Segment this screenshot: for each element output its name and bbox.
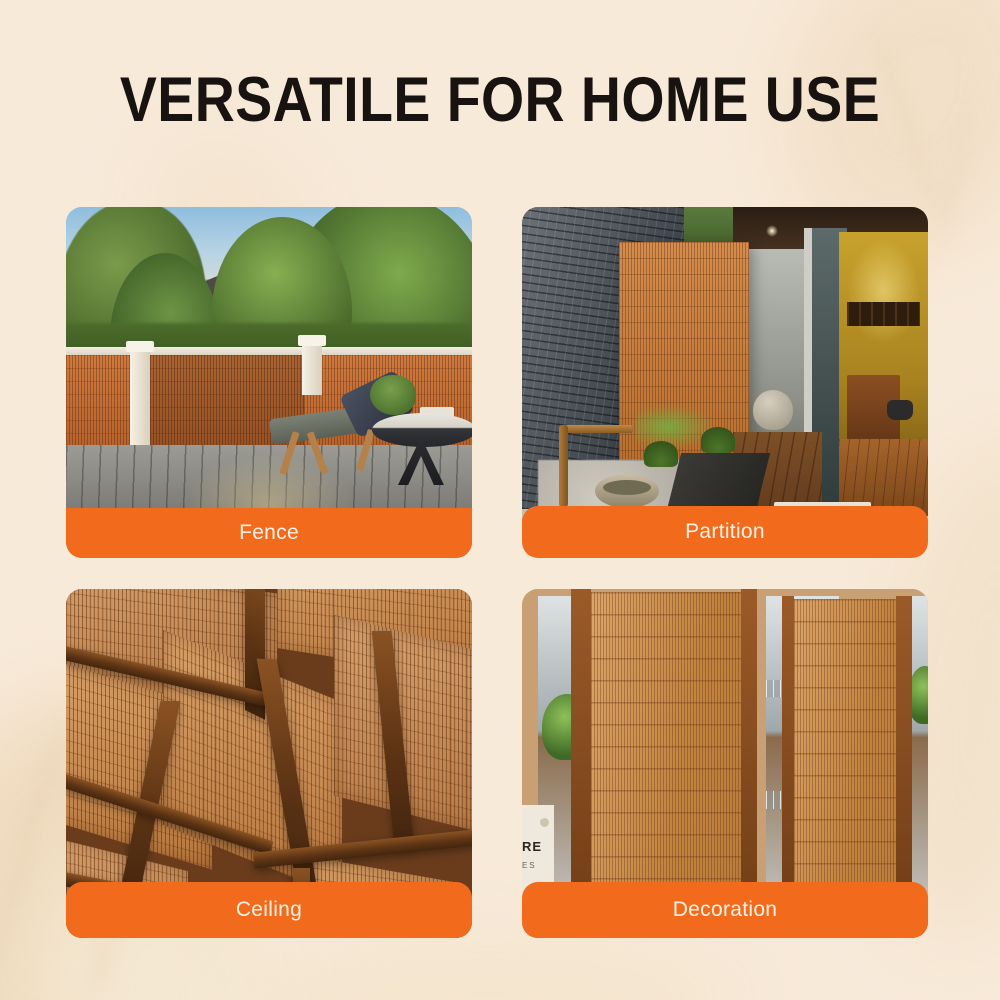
card-label-ceiling: Ceiling <box>66 882 472 938</box>
sign-line-1: RE <box>522 839 542 854</box>
fence-photo <box>66 207 472 558</box>
sign-line-2: ES <box>522 861 537 870</box>
reed-blind-panel-right <box>794 599 904 917</box>
card-label-decoration: Decoration <box>522 882 928 938</box>
use-case-grid: Fence <box>66 207 938 938</box>
stone-water-basin <box>595 474 659 508</box>
use-case-card-decoration[interactable]: RE ES Decoration <box>522 589 928 938</box>
card-label-partition: Partition <box>522 506 928 558</box>
use-case-card-partition[interactable]: Partition <box>522 207 928 558</box>
use-case-card-ceiling[interactable]: Ceiling <box>66 589 472 938</box>
reed-blind-panel-left <box>591 592 741 924</box>
page-title: VERSATILE FOR HOME USE <box>60 64 940 136</box>
card-label-fence: Fence <box>66 508 472 558</box>
use-case-card-fence[interactable]: Fence <box>66 207 472 558</box>
